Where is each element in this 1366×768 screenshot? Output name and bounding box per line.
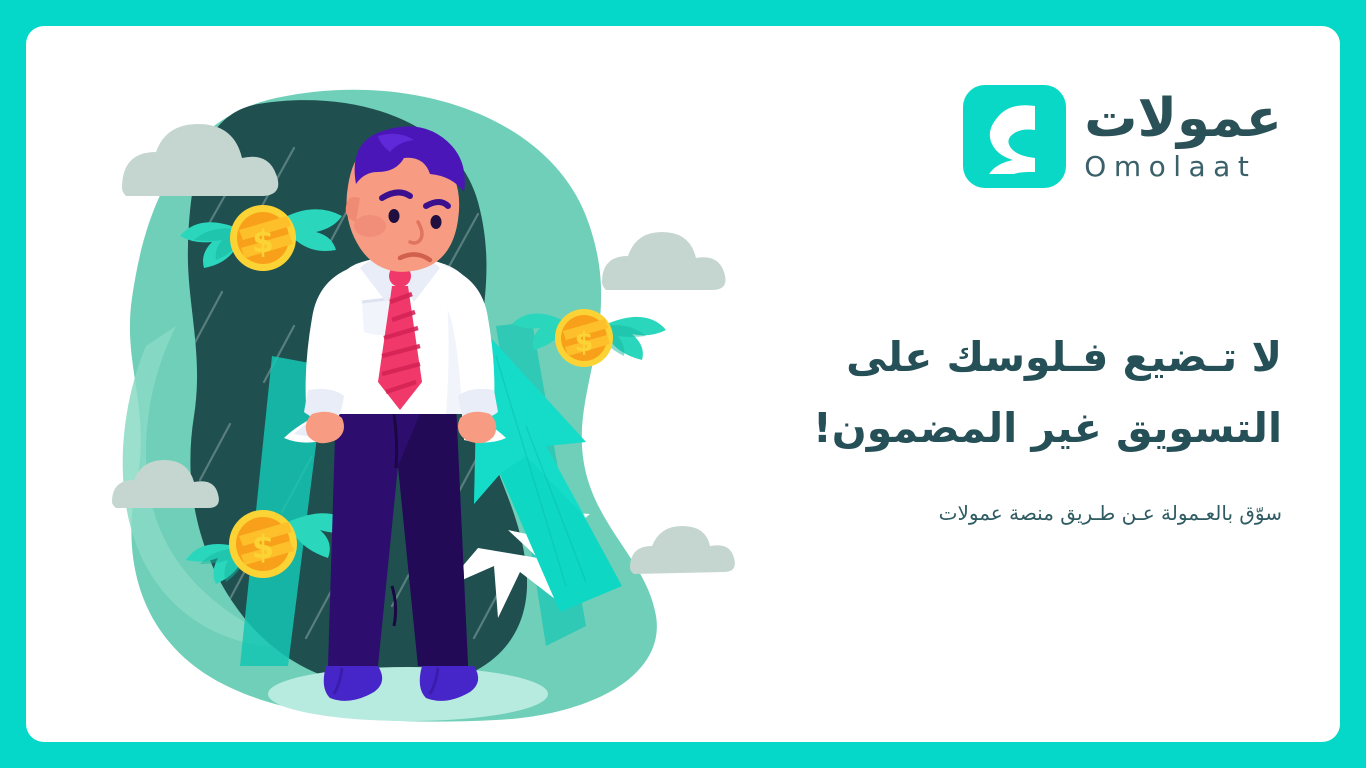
- arabic-ain-letter-icon: [980, 100, 1050, 174]
- logo-name-arabic: عمولات: [1084, 92, 1282, 146]
- logo-wordmark: عمولات Omolaat: [1084, 92, 1282, 181]
- logo-name-english: Omolaat: [1084, 153, 1262, 181]
- subheadline-text: سوّق بالعـمولة عـن طـريق منصة عمولات: [782, 496, 1282, 530]
- logo-mark: [963, 85, 1066, 188]
- cloud-top-right: [602, 232, 726, 290]
- banner-frame: $ $: [0, 0, 1366, 768]
- copy-column: عمولات Omolaat لا تـضيع فـلوسك على التسو…: [750, 26, 1310, 742]
- hero-illustration: $ $: [26, 26, 746, 742]
- banner-canvas: $ $: [26, 26, 1340, 742]
- svg-text:$: $: [252, 528, 274, 566]
- ground-shadow: [268, 667, 548, 721]
- svg-text:$: $: [252, 224, 274, 260]
- svg-text:$: $: [575, 327, 594, 358]
- headline-text: لا تـضيع فـلوسك على التسويق غير المضمون!: [782, 322, 1282, 463]
- brand-logo-lockup[interactable]: عمولات Omolaat: [963, 85, 1282, 188]
- character-head: [346, 126, 465, 271]
- cloud-bottom-right: [630, 526, 735, 574]
